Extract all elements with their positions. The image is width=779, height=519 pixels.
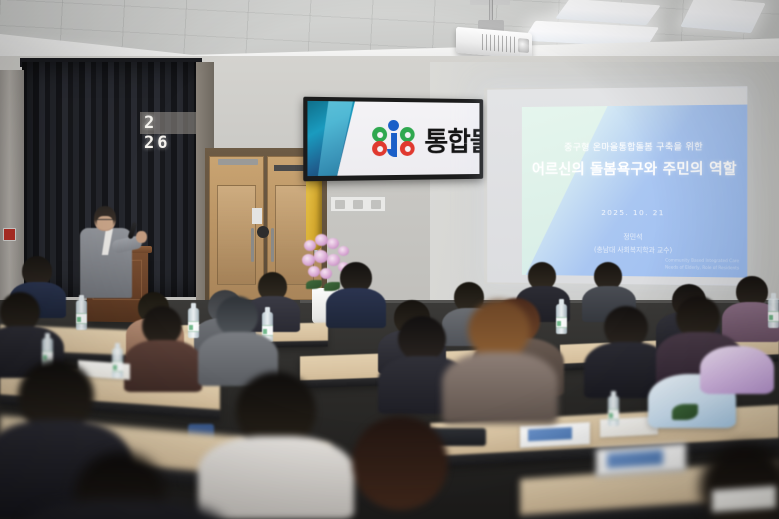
water-bottle (768, 298, 779, 328)
logo-dot-green-icon (372, 127, 387, 142)
projector-lens-icon (518, 38, 529, 53)
emergency-sign-icon (3, 228, 16, 241)
slide-affiliation: (충남대 사회복지학과 교수) (522, 243, 747, 255)
wall-clock-display: 2 26 (144, 113, 192, 133)
slide-presenter: 정민석 (522, 231, 747, 243)
slide-title: 어르신의 돌봄욕구와 주민의 역할 (522, 157, 747, 179)
wall-pillar (0, 70, 24, 300)
wall-monitor: 통합돌 (303, 97, 483, 182)
logo-dot-red-icon (400, 141, 415, 156)
door-plate (252, 208, 262, 224)
water-bottle (112, 348, 123, 378)
door-handle-right[interactable] (271, 228, 274, 262)
door-closer (218, 159, 258, 165)
monitor-logo-text: 통합돌 (424, 120, 479, 159)
slide-footnote: Community Based Integrated Care Needs of… (665, 258, 739, 272)
bouquet-purple (700, 346, 774, 394)
outlet-socket[interactable] (371, 200, 381, 209)
projector-vents (482, 34, 516, 53)
water-bottle (188, 308, 199, 338)
door-lock-icon[interactable] (257, 226, 269, 238)
water-bottle (76, 300, 87, 330)
slide-date: 2025. 10. 21 (522, 208, 747, 218)
door-left[interactable] (209, 156, 264, 300)
document (712, 486, 776, 512)
slide-subtitle: 중구형 온마을통합돌봄 구축을 위한 (522, 138, 747, 153)
water-bottle (608, 396, 619, 426)
monitor-screen: 통합돌 (307, 101, 479, 176)
logo-dot-green-icon (400, 127, 415, 142)
logo-dot-red-icon (372, 141, 387, 156)
door-handle-left[interactable] (251, 228, 254, 262)
wall-outlet-strip[interactable] (330, 196, 386, 212)
logo-j-mark-icon (387, 120, 400, 160)
glasses-icon (97, 219, 114, 223)
care-logo (371, 116, 416, 162)
projector-mount-rod (489, 0, 493, 22)
projection-screen: 중구형 온마을통합돌봄 구축을 위한 어르신의 돌봄욕구와 주민의 역할 202… (487, 86, 747, 286)
outlet-socket[interactable] (335, 200, 345, 209)
outlet-socket[interactable] (353, 200, 363, 209)
seminar-room-photo: 2 26 (0, 0, 779, 519)
water-bottle (556, 304, 567, 334)
presentation-slide: 중구형 온마을통합돌봄 구축을 위한 어르신의 돌봄욕구와 주민의 역할 202… (522, 105, 747, 278)
speaker-hand (136, 231, 147, 243)
booklet (520, 422, 590, 448)
